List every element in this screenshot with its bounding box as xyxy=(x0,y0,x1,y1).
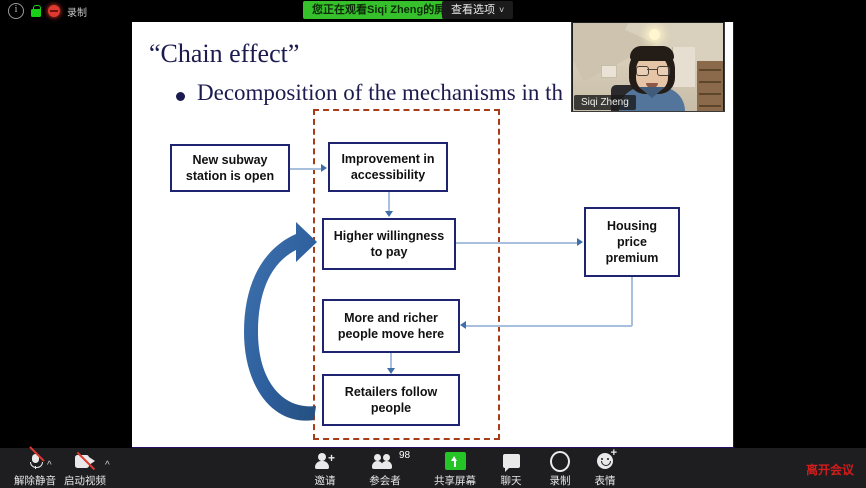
view-options-button[interactable]: 查看选项˅ xyxy=(442,1,513,19)
mute-button[interactable]: 解除静音 xyxy=(8,451,62,488)
connector-housing-horizontal xyxy=(466,325,632,327)
flow-box-housing-price-premium: Housing price premium xyxy=(584,207,680,277)
chat-label: 聊天 xyxy=(501,473,522,488)
flow-box-retailers-follow-people: Retailers follow people xyxy=(322,374,460,426)
participant-name-label: Siqi Zheng xyxy=(574,95,636,110)
invite-button[interactable]: + 邀请 xyxy=(298,451,352,488)
reactions-button[interactable]: + 表情 xyxy=(578,451,632,488)
video-options-caret-icon[interactable]: ^ xyxy=(105,460,110,471)
flow-box-more-richer-people: More and richer people move here xyxy=(322,299,460,353)
mute-label: 解除静音 xyxy=(14,473,56,488)
camera-off-icon xyxy=(75,455,95,468)
participants-label: 参会者 xyxy=(369,473,401,488)
zoom-meeting-window: i 录制 您正在观看Siqi Zheng的屏幕 查看选项˅ “Chain eff… xyxy=(0,0,866,488)
invite-label: 邀请 xyxy=(315,473,336,488)
recording-indicator-icon[interactable] xyxy=(48,5,60,17)
connector-housing-vertical xyxy=(631,277,633,326)
video-feed: Siqi Zheng xyxy=(573,23,723,111)
participant-count: 98 xyxy=(399,450,410,461)
flow-box-higher-willingness-to-pay: Higher willingness to pay xyxy=(322,218,456,270)
record-circle-icon xyxy=(550,451,570,472)
slide-bullet-text: Decomposition of the mechanisms in th xyxy=(197,80,563,106)
connector-subway-to-accessibility xyxy=(290,168,322,170)
top-bar: i 录制 您正在观看Siqi Zheng的屏幕 查看选项˅ xyxy=(0,0,866,22)
arrowhead-move-here xyxy=(460,321,466,329)
ceiling-light xyxy=(649,29,660,40)
recording-label: 录制 xyxy=(67,4,87,19)
arrowhead-accessibility xyxy=(321,164,327,172)
feedback-loop-arrow xyxy=(240,220,318,432)
chevron-down-icon: ˅ xyxy=(499,5,504,15)
share-screen-button[interactable]: 共享屏幕 xyxy=(428,451,482,488)
view-options-label: 查看选项 xyxy=(451,4,495,16)
arrowhead-housing xyxy=(577,238,583,246)
participants-button[interactable]: 98 参会者 xyxy=(358,451,412,488)
screen-share-banner: 您正在观看Siqi Zheng的屏幕 xyxy=(303,1,465,19)
connector-accessibility-to-willingness xyxy=(388,192,390,212)
start-video-label: 启动视频 xyxy=(64,473,106,488)
start-video-button[interactable]: 启动视频 xyxy=(58,451,112,488)
invite-person-icon: + xyxy=(315,453,335,469)
reactions-smiley-icon: + xyxy=(597,453,613,469)
bookshelf xyxy=(697,61,723,111)
connector-move-to-retailers xyxy=(390,353,392,369)
audio-options-caret-icon[interactable]: ^ xyxy=(47,460,52,471)
flow-box-improvement-accessibility: Improvement in accessibility xyxy=(328,142,448,192)
meeting-info-icon[interactable]: i xyxy=(8,3,24,19)
record-label: 录制 xyxy=(550,473,571,488)
encryption-lock-icon[interactable] xyxy=(31,5,41,17)
share-screen-label: 共享屏幕 xyxy=(434,473,476,488)
arrowhead-willingness xyxy=(385,211,393,217)
bullet-dot-icon xyxy=(176,92,185,101)
participants-icon: 98 xyxy=(373,453,397,469)
flow-box-new-subway-station: New subway station is open xyxy=(170,144,290,192)
slide-title: “Chain effect” xyxy=(149,39,299,69)
leave-meeting-button[interactable]: 离开会议 xyxy=(806,461,854,478)
connector-willingness-to-housing xyxy=(456,242,578,244)
slide-bullet: Decomposition of the mechanisms in th xyxy=(176,80,563,106)
meeting-status-icons: i 录制 xyxy=(8,3,87,19)
reactions-label: 表情 xyxy=(595,473,616,488)
meeting-controls-toolbar: 解除静音 ^ 启动视频 ^ + 邀请 98 参会者 共享屏幕 xyxy=(0,448,866,488)
chat-button[interactable]: 聊天 xyxy=(484,451,538,488)
share-screen-icon xyxy=(445,452,466,470)
microphone-muted-icon xyxy=(31,454,40,469)
chat-bubble-icon xyxy=(503,454,520,468)
